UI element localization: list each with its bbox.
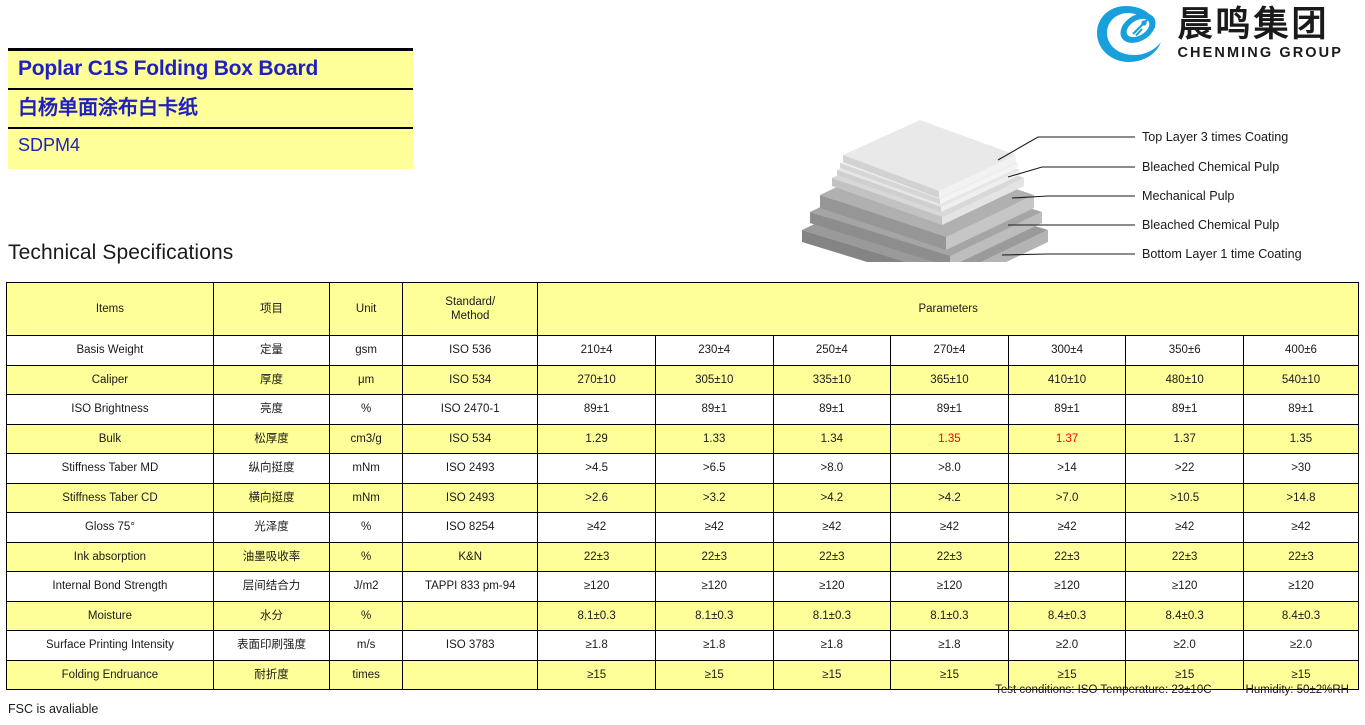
cell-value: 210±4	[538, 336, 656, 366]
cell-item: Stiffness Taber CD	[7, 483, 214, 513]
cell-item-zh: 横向挺度	[213, 483, 329, 513]
cell-value: 540±10	[1243, 365, 1358, 395]
cell-value: 8.1±0.3	[773, 601, 891, 631]
cell-value: 410±10	[1008, 365, 1126, 395]
column-header-standard-method: Standard/ Method	[403, 283, 538, 336]
table-row: Moisture水分%8.1±0.38.1±0.38.1±0.38.1±0.38…	[7, 601, 1359, 631]
cell-unit: mNm	[330, 454, 403, 484]
cell-value: 305±10	[655, 365, 773, 395]
cell-value: ≥42	[1243, 513, 1358, 543]
cell-value: 1.35	[891, 424, 1009, 454]
cell-item-zh: 耐折度	[213, 660, 329, 690]
cell-standard	[403, 660, 538, 690]
cell-value: ≥42	[773, 513, 891, 543]
cell-standard: ISO 2493	[403, 454, 538, 484]
cell-value: >8.0	[891, 454, 1009, 484]
table-row: Bulk松厚度cm3/gISO 5341.291.331.341.351.371…	[7, 424, 1359, 454]
table-body: Basis Weight定量gsmISO 536210±4230±4250±42…	[7, 336, 1359, 690]
cell-item-zh: 定量	[213, 336, 329, 366]
cell-standard: ISO 8254	[403, 513, 538, 543]
cell-value: ≥120	[538, 572, 656, 602]
cell-value: 89±1	[891, 395, 1009, 425]
cell-value: 480±10	[1126, 365, 1244, 395]
cell-unit: %	[330, 513, 403, 543]
cell-value: 270±4	[891, 336, 1009, 366]
cell-unit: times	[330, 660, 403, 690]
humidity-text: Humidity: 50±2%RH	[1246, 684, 1349, 696]
cell-unit: J/m2	[330, 572, 403, 602]
table-row: Internal Bond Strength层间结合力J/m2TAPPI 833…	[7, 572, 1359, 602]
cell-item-zh: 厚度	[213, 365, 329, 395]
cell-standard: ISO 3783	[403, 631, 538, 661]
product-title-block: Poplar C1S Folding Box Board 白杨单面涂布白卡纸 S…	[8, 48, 413, 169]
cell-value: ≥120	[1243, 572, 1358, 602]
cell-item: Basis Weight	[7, 336, 214, 366]
table-row: ISO Brightness亮度%ISO 2470-189±189±189±18…	[7, 395, 1359, 425]
layer-label-2: Mechanical Pulp	[1142, 189, 1234, 203]
cell-value: 89±1	[655, 395, 773, 425]
cell-value: 300±4	[1008, 336, 1126, 366]
logo-chinese-name: 晨鸣集团	[1177, 8, 1343, 44]
cell-item-zh: 纵向挺度	[213, 454, 329, 484]
column-header-unit: Unit	[330, 283, 403, 336]
cell-unit: mNm	[330, 483, 403, 513]
cell-value: >4.2	[773, 483, 891, 513]
page-title: Poplar C1S Folding Box Board	[18, 57, 403, 81]
cell-value: ≥42	[538, 513, 656, 543]
cell-item: Internal Bond Strength	[7, 572, 214, 602]
cell-value: 350±6	[1126, 336, 1244, 366]
layer-label-4: Bottom Layer 1 time Coating	[1142, 247, 1302, 261]
cell-standard: ISO 2470-1	[403, 395, 538, 425]
table-row: Gloss 75°光泽度%ISO 8254≥42≥42≥42≥42≥42≥42≥…	[7, 513, 1359, 543]
cell-unit: %	[330, 395, 403, 425]
cell-value: 89±1	[538, 395, 656, 425]
cell-value: 89±1	[773, 395, 891, 425]
cell-item-zh: 松厚度	[213, 424, 329, 454]
cell-value: ≥15	[655, 660, 773, 690]
cell-value: ≥1.8	[773, 631, 891, 661]
cell-unit: %	[330, 542, 403, 572]
logo-wordmark: 晨鸣集团 CHENMING GROUP	[1177, 8, 1343, 63]
cell-item: Bulk	[7, 424, 214, 454]
cell-value: 365±10	[891, 365, 1009, 395]
cell-item-zh: 油墨吸收率	[213, 542, 329, 572]
cell-standard	[403, 601, 538, 631]
cell-value: >3.2	[655, 483, 773, 513]
cell-value: ≥120	[891, 572, 1009, 602]
cell-item: Folding Endruance	[7, 660, 214, 690]
table-row: Stiffness Taber MD纵向挺度mNmISO 2493>4.5>6.…	[7, 454, 1359, 484]
cell-value: 1.37	[1126, 424, 1244, 454]
cell-value: 1.37	[1008, 424, 1126, 454]
cell-unit: gsm	[330, 336, 403, 366]
product-code: SDPM4	[18, 135, 403, 157]
cell-value: 8.4±0.3	[1243, 601, 1358, 631]
cell-value: 1.35	[1243, 424, 1358, 454]
cell-value: ≥15	[773, 660, 891, 690]
product-name-zh-row: 白杨单面涂布白卡纸	[8, 90, 413, 129]
cell-item-zh: 光泽度	[213, 513, 329, 543]
product-name-en-row: Poplar C1S Folding Box Board	[8, 51, 413, 90]
cell-standard: K&N	[403, 542, 538, 572]
table-row: Caliper厚度μmISO 534270±10305±10335±10365±…	[7, 365, 1359, 395]
cell-value: ≥2.0	[1126, 631, 1244, 661]
cell-item: ISO Brightness	[7, 395, 214, 425]
cell-value: 1.34	[773, 424, 891, 454]
test-conditions-text: Test conditions: ISO Temperature: 23±10C	[995, 684, 1211, 696]
table-row: Surface Printing Intensity表面印刷强度m/sISO 3…	[7, 631, 1359, 661]
cell-value: >14.8	[1243, 483, 1358, 513]
column-header-parameters: Parameters	[538, 283, 1359, 336]
cell-unit: m/s	[330, 631, 403, 661]
cell-value: >14	[1008, 454, 1126, 484]
cell-value: >22	[1126, 454, 1244, 484]
cell-item: Caliper	[7, 365, 214, 395]
technical-specifications-table: Items 项目 Unit Standard/ Method Parameter…	[6, 282, 1359, 690]
cell-value: 22±3	[891, 542, 1009, 572]
cell-value: 22±3	[538, 542, 656, 572]
cell-value: 89±1	[1243, 395, 1358, 425]
cell-value: ≥120	[1126, 572, 1244, 602]
cell-value: 1.29	[538, 424, 656, 454]
chenming-group-logo: 晨鸣集团 CHENMING GROUP	[1095, 4, 1343, 66]
cell-value: ≥2.0	[1243, 631, 1358, 661]
cell-value: ≥1.8	[655, 631, 773, 661]
cell-value: ≥42	[891, 513, 1009, 543]
cell-value: >6.5	[655, 454, 773, 484]
cell-value: ≥42	[655, 513, 773, 543]
product-code-row: SDPM4	[8, 129, 413, 169]
cell-value: >10.5	[1126, 483, 1244, 513]
cell-value: 22±3	[1243, 542, 1358, 572]
table-row: Ink absorption油墨吸收率%K&N22±322±322±322±32…	[7, 542, 1359, 572]
cell-item-zh: 亮度	[213, 395, 329, 425]
cell-value: 335±10	[773, 365, 891, 395]
board-layer-diagram: Top Layer 3 times Coating Bleached Chemi…	[780, 92, 1365, 262]
cell-value: 22±3	[1126, 542, 1244, 572]
product-name-chinese: 白杨单面涂布白卡纸	[18, 96, 403, 120]
cell-value: ≥15	[891, 660, 1009, 690]
cell-value: 8.1±0.3	[891, 601, 1009, 631]
cell-item: Surface Printing Intensity	[7, 631, 214, 661]
cell-value: ≥42	[1126, 513, 1244, 543]
cell-unit: μm	[330, 365, 403, 395]
cell-value: 89±1	[1126, 395, 1244, 425]
cell-value: >8.0	[773, 454, 891, 484]
cell-value: ≥1.8	[891, 631, 1009, 661]
cell-unit: cm3/g	[330, 424, 403, 454]
cell-item-zh: 表面印刷强度	[213, 631, 329, 661]
table-row: Stiffness Taber CD横向挺度mNmISO 2493>2.6>3.…	[7, 483, 1359, 513]
logo-english-name: CHENMING GROUP	[1177, 46, 1343, 62]
cell-standard: ISO 536	[403, 336, 538, 366]
section-heading: Technical Specifications	[8, 241, 233, 265]
layer-label-0: Top Layer 3 times Coating	[1142, 130, 1288, 144]
cell-value: 22±3	[773, 542, 891, 572]
cell-standard: ISO 534	[403, 424, 538, 454]
cell-value: 1.33	[655, 424, 773, 454]
cell-standard: ISO 2493	[403, 483, 538, 513]
cell-value: ≥1.8	[538, 631, 656, 661]
cell-value: >30	[1243, 454, 1358, 484]
cell-standard: TAPPI 833 pm-94	[403, 572, 538, 602]
layer-label-3: Bleached Chemical Pulp	[1142, 218, 1279, 232]
cell-item-zh: 层间结合力	[213, 572, 329, 602]
cell-value: ≥120	[1008, 572, 1126, 602]
cell-value: >4.5	[538, 454, 656, 484]
cell-item: Gloss 75°	[7, 513, 214, 543]
cell-value: ≥15	[538, 660, 656, 690]
cell-value: 22±3	[655, 542, 773, 572]
cell-value: 230±4	[655, 336, 773, 366]
layer-label-1: Bleached Chemical Pulp	[1142, 160, 1279, 174]
cell-value: ≥120	[655, 572, 773, 602]
cell-standard: ISO 534	[403, 365, 538, 395]
cell-value: 89±1	[1008, 395, 1126, 425]
cell-unit: %	[330, 601, 403, 631]
cell-value: 270±10	[538, 365, 656, 395]
cell-item: Moisture	[7, 601, 214, 631]
column-header-items-zh: 项目	[213, 283, 329, 336]
standard-line-2: Method	[451, 310, 489, 322]
table-header-row: Items 项目 Unit Standard/ Method Parameter…	[7, 283, 1359, 336]
cell-value: 8.4±0.3	[1008, 601, 1126, 631]
cell-item: Ink absorption	[7, 542, 214, 572]
cell-value: ≥42	[1008, 513, 1126, 543]
cell-value: ≥120	[773, 572, 891, 602]
chenming-swirl-icon	[1095, 4, 1167, 66]
cell-value: >4.2	[891, 483, 1009, 513]
fsc-note: FSC is avaliable	[8, 702, 98, 716]
cell-value: >7.0	[1008, 483, 1126, 513]
cell-value: 400±6	[1243, 336, 1358, 366]
footer-test-conditions: Test conditions: ISO Temperature: 23±10C…	[995, 684, 1349, 696]
cell-item-zh: 水分	[213, 601, 329, 631]
cell-value: 22±3	[1008, 542, 1126, 572]
column-header-items: Items	[7, 283, 214, 336]
table-row: Basis Weight定量gsmISO 536210±4230±4250±42…	[7, 336, 1359, 366]
cell-value: >2.6	[538, 483, 656, 513]
cell-item: Stiffness Taber MD	[7, 454, 214, 484]
cell-value: 8.4±0.3	[1126, 601, 1244, 631]
cell-value: 8.1±0.3	[655, 601, 773, 631]
cell-value: ≥2.0	[1008, 631, 1126, 661]
standard-line-1: Standard/	[445, 296, 495, 308]
cell-value: 250±4	[773, 336, 891, 366]
cell-value: 8.1±0.3	[538, 601, 656, 631]
